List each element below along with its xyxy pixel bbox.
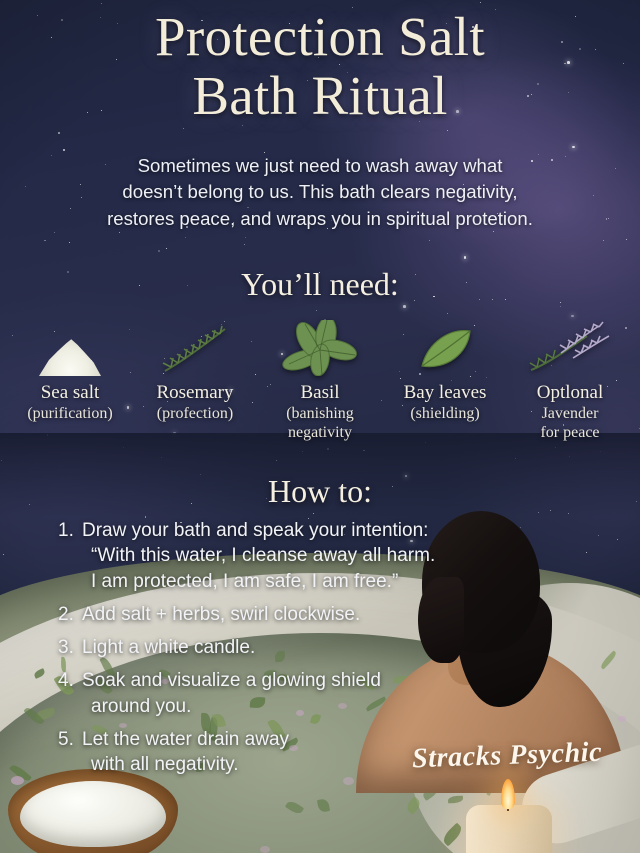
intro-paragraph: Sometimes we just need to wash away what… [34,153,606,232]
ingredient-note: (banishingnegativity [260,405,380,441]
step-line: Draw your bath and speak your intention: [82,518,620,543]
ingredient-bay-leaves: Bay leaves (shielding) [385,318,505,424]
intro-line-1: Sometimes we just need to wash away what [34,153,606,179]
how-to-step: 2.Add salt + herbs, swirl clockwise. [58,602,620,627]
brand-watermark: Stracks Psychic [411,737,602,776]
step-text: Draw your bath and speak your intention:… [82,518,620,594]
step-text: Soak and visualize a glowing shieldaroun… [82,668,620,719]
step-line: Add salt + herbs, swirl clockwise. [82,602,620,627]
salt-pile-icon [10,318,130,376]
step-number: 5. [58,727,82,752]
title-line-1: Protection Salt [0,8,640,67]
ingredient-note: (purification) [10,405,130,423]
lavender-sprig-icon [510,318,630,376]
ingredients-row: Sea salt (purification) [10,318,630,442]
step-line: Light a white candle. [82,635,620,660]
step-line: around you. [82,694,620,719]
ingredient-note: Javenderfor peace [510,405,630,441]
step-number: 4. [58,668,82,693]
how-to-step: 3.Light a white candle. [58,635,620,660]
ingredient-rosemary: Rosemary (profection) [135,318,255,424]
step-line: I am protected, I am safe, I am free.” [82,569,620,594]
ingredient-lavender: Optlonal Javenderfor peace [510,318,630,442]
step-text: Light a white candle. [82,635,620,660]
how-to-step: 1.Draw your bath and speak your intentio… [58,518,620,594]
how-to-heading: How to: [0,473,640,510]
ingredient-name: Bay leaves [385,382,505,403]
basil-leaves-icon [260,318,380,376]
step-number: 1. [58,518,82,543]
ingredient-name: Basil [260,382,380,403]
ingredient-note: (profection) [135,405,255,423]
page-title: Protection Salt Bath Ritual [0,8,640,126]
step-number: 2. [58,602,82,627]
title-line-2: Bath Ritual [0,67,640,126]
bay-leaf-icon [385,318,505,376]
ingredient-name: Optlonal [510,382,630,403]
step-line: “With this water, I cleanse away all har… [82,543,620,568]
ingredient-note: (shielding) [385,405,505,423]
how-to-step: 4.Soak and visualize a glowing shieldaro… [58,668,620,719]
step-line: Soak and visualize a glowing shield [82,668,620,693]
intro-line-2: doesn’t belong to us. This bath clears n… [34,179,606,205]
intro-line-3: restores peace, and wraps you in spiritu… [34,206,606,232]
poster-content: Protection Salt Bath Ritual Sometimes we… [0,0,640,853]
ingredient-sea-salt: Sea salt (purification) [10,318,130,424]
step-text: Add salt + herbs, swirl clockwise. [82,602,620,627]
youll-need-heading: You’ll need: [0,266,640,303]
rosemary-sprig-icon [135,318,255,376]
ingredient-name: Sea salt [10,382,130,403]
ingredient-name: Rosemary [135,382,255,403]
step-number: 3. [58,635,82,660]
ingredient-basil: Basil (banishingnegativity [260,318,380,442]
poster-canvas: Protection Salt Bath Ritual Sometimes we… [0,0,640,853]
